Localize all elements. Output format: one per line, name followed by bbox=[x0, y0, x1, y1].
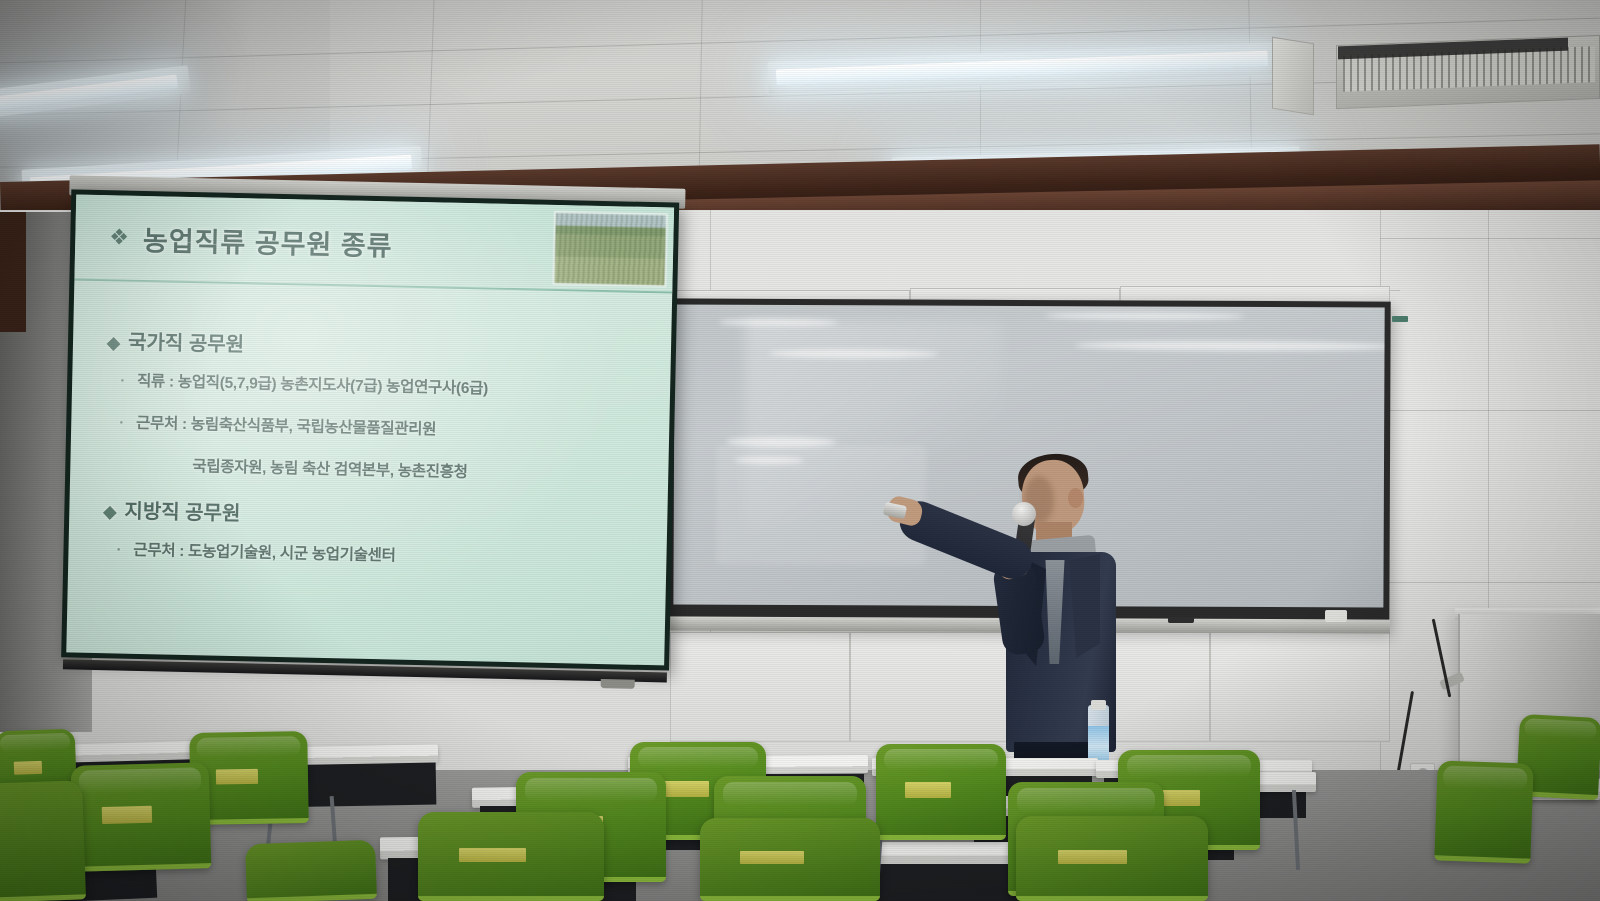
chair-inventory-sticker bbox=[1058, 850, 1127, 864]
screen-pull-tab[interactable] bbox=[601, 679, 635, 689]
slide-body: ◆국가직 공무원 ·직류 : 농업직(5,7,9급) 농촌지도사(7급) 농업연… bbox=[68, 280, 672, 571]
slide-bullet-continuation: 국립종자원, 농림 축산 검역본부, 농촌진흥청 bbox=[192, 454, 668, 486]
lecturer-ear bbox=[1068, 488, 1083, 508]
farm-field-photo bbox=[552, 211, 668, 287]
classroom-chair[interactable] bbox=[71, 762, 212, 872]
classroom-chair[interactable] bbox=[1016, 816, 1208, 901]
slide-bullet: ·근무처 : 도농업기술원, 시군 농업기술센터 bbox=[116, 537, 666, 571]
diamond-bullet-icon: ◆ bbox=[107, 333, 121, 353]
classroom-chair[interactable] bbox=[245, 840, 377, 901]
vent-bracket bbox=[1272, 37, 1314, 116]
diamond-cluster-icon: ❖ bbox=[109, 224, 129, 250]
chair-inventory-sticker bbox=[905, 782, 952, 797]
classroom-chair[interactable] bbox=[418, 812, 604, 901]
classroom-chair[interactable] bbox=[700, 818, 880, 901]
slide-section-heading: ◆국가직 공무원 bbox=[107, 325, 671, 366]
bullet-dot-icon: · bbox=[120, 372, 125, 390]
classroom-chair[interactable] bbox=[876, 744, 1006, 840]
chair-inventory-sticker bbox=[13, 761, 42, 774]
whiteboard-eraser[interactable] bbox=[1325, 610, 1347, 622]
projection-screen: ❖ 농업직류 공무원 종류 ◆국가직 공무원 ·직류 : 농업직(5,7,9급)… bbox=[61, 189, 683, 687]
lecture-hall-photo: ❖ 농업직류 공무원 종류 ◆국가직 공무원 ·직류 : 농업직(5,7,9급)… bbox=[0, 0, 1600, 901]
slide-section-heading: ◆지방직 공무원 bbox=[103, 494, 667, 535]
slide-bullet: ·근무처 : 농림축산식품부, 국립농산물품질관리원 bbox=[119, 410, 669, 444]
bullet-dot-icon: · bbox=[116, 541, 121, 559]
slide-bullet: ·직류 : 농업직(5,7,9급) 농촌지도사(7급) 농업연구사(6급) bbox=[120, 368, 670, 402]
diamond-bullet-icon: ◆ bbox=[103, 502, 117, 522]
slide-header: ❖ 농업직류 공무원 종류 bbox=[74, 194, 674, 293]
classroom-chair[interactable] bbox=[0, 780, 86, 901]
whiteboard-magnet[interactable] bbox=[1392, 316, 1408, 322]
chair-inventory-sticker bbox=[740, 851, 805, 864]
chair-inventory-sticker bbox=[660, 781, 709, 797]
whiteboard-marker[interactable] bbox=[1168, 617, 1194, 623]
classroom-furniture bbox=[0, 700, 1600, 901]
wall-left-corner bbox=[0, 212, 26, 332]
slide-title: 농업직류 공무원 종류 bbox=[143, 218, 393, 262]
chair-inventory-sticker bbox=[459, 848, 526, 862]
chair-inventory-sticker bbox=[216, 769, 259, 784]
presentation-slide: ❖ 농업직류 공무원 종류 ◆국가직 공무원 ·직류 : 농업직(5,7,9급)… bbox=[66, 194, 674, 665]
classroom-chair[interactable] bbox=[1434, 760, 1533, 863]
bullet-dot-icon: · bbox=[119, 414, 124, 432]
chair-inventory-sticker bbox=[102, 806, 152, 824]
